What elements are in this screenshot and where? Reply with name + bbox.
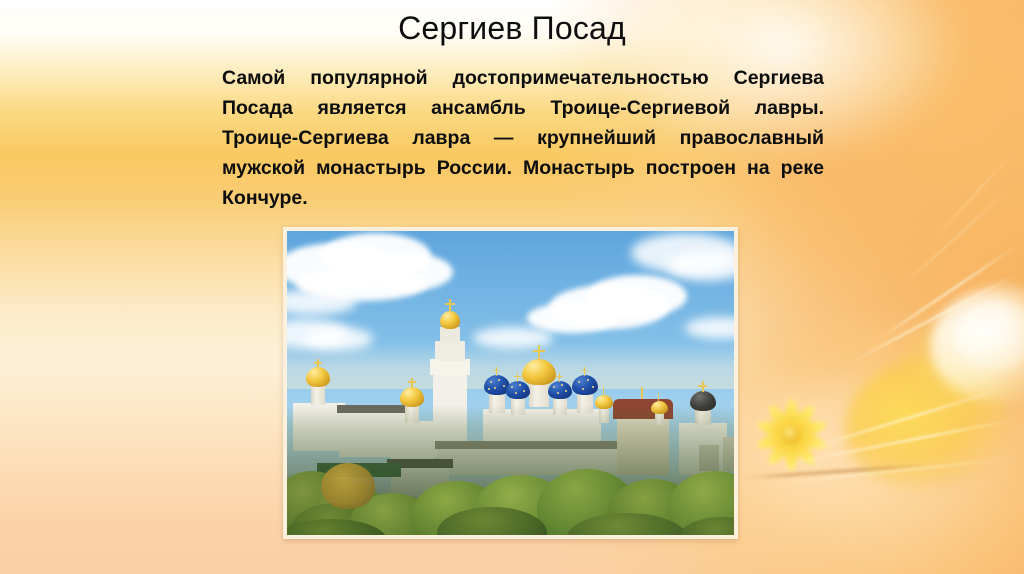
lavra-photo-frame bbox=[283, 227, 738, 539]
gold-dome-icon bbox=[440, 311, 460, 329]
cloud-icon bbox=[527, 303, 617, 333]
cross-icon bbox=[581, 370, 588, 371]
blue-dome-icon bbox=[506, 381, 530, 399]
cross-icon bbox=[314, 362, 322, 364]
cross-icon bbox=[698, 385, 707, 387]
cross-icon bbox=[514, 376, 521, 377]
cross-icon bbox=[496, 367, 497, 376]
cross-icon bbox=[317, 359, 319, 368]
cross-icon bbox=[702, 381, 704, 392]
blue-dome-icon bbox=[548, 381, 572, 399]
cross-icon bbox=[584, 367, 585, 376]
slide-title: Сергиев Посад bbox=[0, 8, 1024, 48]
cross-icon bbox=[658, 393, 659, 402]
cross-icon bbox=[556, 376, 563, 377]
bell-tower-tier bbox=[430, 359, 470, 375]
slide: Сергиев Посад Самой популярной достоприм… bbox=[0, 0, 1024, 574]
bell-tower-tier bbox=[435, 341, 465, 361]
lavra-photo bbox=[287, 231, 734, 535]
body-paragraph: Самой популярной достопримечательностью … bbox=[222, 63, 824, 213]
gold-dome-icon bbox=[400, 387, 424, 407]
cross-icon bbox=[449, 299, 451, 312]
cross-icon bbox=[517, 373, 518, 382]
cross-icon bbox=[559, 373, 560, 382]
cross-icon bbox=[411, 378, 413, 388]
cross-icon bbox=[603, 387, 604, 396]
bell-tower-tier bbox=[440, 327, 460, 343]
cross-icon bbox=[533, 350, 545, 352]
cross-icon bbox=[493, 370, 500, 371]
blue-dome-icon bbox=[572, 375, 598, 395]
autumn-tree-icon bbox=[321, 463, 375, 509]
cross-icon bbox=[641, 387, 643, 399]
gold-dome-icon bbox=[522, 359, 556, 385]
slide-body-text: Самой популярной достопримечательностью … bbox=[222, 63, 824, 213]
cross-icon bbox=[445, 303, 455, 305]
cross-icon bbox=[408, 381, 416, 383]
gold-dome-icon bbox=[306, 367, 330, 387]
cross-icon bbox=[538, 345, 540, 360]
